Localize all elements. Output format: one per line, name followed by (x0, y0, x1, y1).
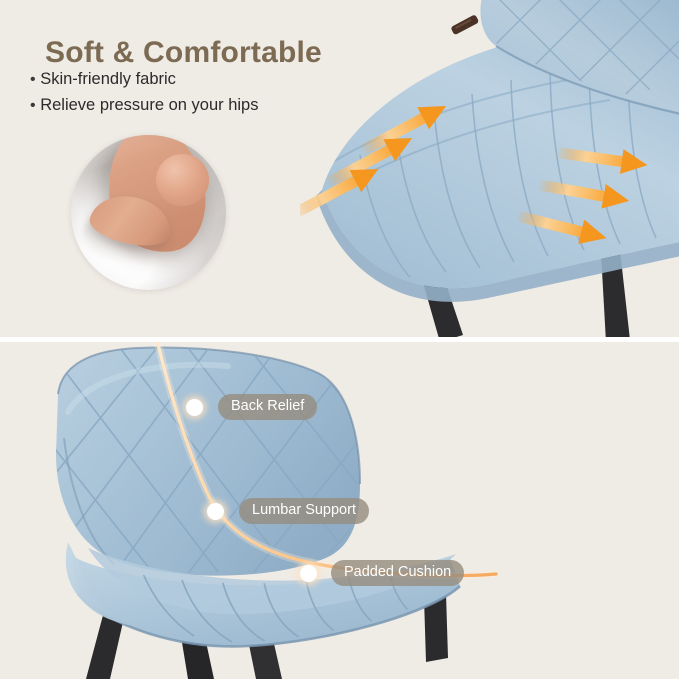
callout-label-back-relief: Back Relief (218, 394, 317, 420)
top-panel-bullet-list: • Skin-friendly fabric • Relieve pressur… (30, 67, 258, 119)
chair-seat-closeup-image (300, 0, 679, 337)
bullet-text: Relieve pressure on your hips (40, 96, 258, 114)
callout-dot-back-relief (186, 399, 203, 416)
product-feature-infographic: Soft & Comfortable • Skin-friendly fabri… (0, 0, 679, 679)
top-panel-heading: Soft & Comfortable (45, 36, 322, 70)
callout-label-lumbar-support: Lumbar Support (239, 498, 369, 524)
top-feature-panel: Soft & Comfortable • Skin-friendly fabri… (0, 0, 679, 337)
callout-label-padded-cushion: Padded Cushion (331, 560, 464, 586)
bullet-dot-icon: • (30, 97, 36, 114)
bullet-text: Skin-friendly fabric (40, 70, 176, 88)
list-item: • Skin-friendly fabric (30, 67, 258, 93)
foam-press-photo (71, 135, 226, 290)
callout-dot-lumbar-support (207, 503, 224, 520)
callout-dot-padded-cushion (300, 565, 317, 582)
brand-tag (450, 14, 479, 35)
vignette-overlay (71, 135, 226, 290)
bullet-dot-icon: • (30, 71, 36, 88)
list-item: • Relieve pressure on your hips (30, 93, 258, 119)
